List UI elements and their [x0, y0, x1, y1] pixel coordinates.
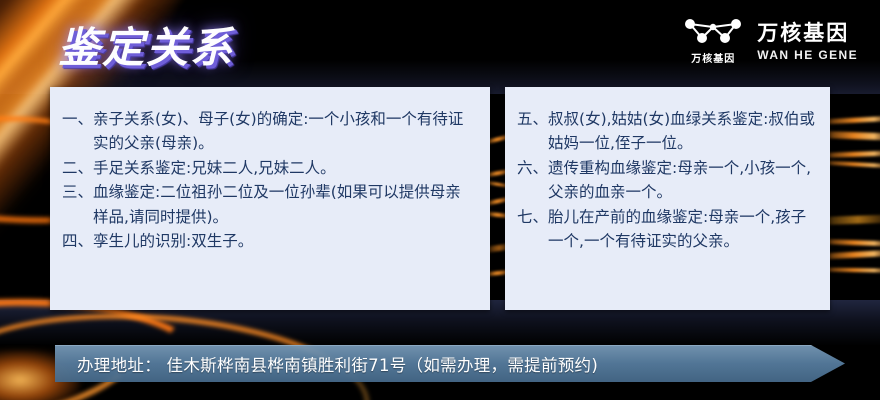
address-banner: 办理地址： 佳木斯桦南县桦南镇胜利街71号（如需办理，需提前预约) — [55, 345, 845, 382]
list-item: 三、 血缘鉴定:二位祖孙二位及一位孙辈(如果可以提供母亲样品,请同时提供)。 — [62, 180, 476, 229]
list-item: 二、 手足关系鉴定:兄妹二人,兄妹二人。 — [62, 156, 476, 180]
center-gap-streaks — [488, 95, 506, 305]
list-item-text: 手足关系鉴定:兄妹二人,兄妹二人。 — [93, 156, 476, 180]
list-item: 七、 胎儿在产前的血缘鉴定:母亲一个,孩子一个,一个有待证实的父亲。 — [517, 205, 816, 254]
list-item-number: 五、 — [517, 107, 548, 131]
panel-left: 一、 亲子关系(女)、母子(女)的确定:一个小孩和一个有待证实的父亲(母亲)。 … — [50, 87, 490, 310]
list-item-number: 四、 — [62, 229, 93, 253]
logo-mark: 万核基因 — [683, 14, 743, 65]
list-item: 五、 叔叔(女),姑姑(女)血绿关系鉴定:叔伯或姑妈一位,侄子一位。 — [517, 107, 816, 156]
list-item-number: 一、 — [62, 107, 93, 131]
list-item: 一、 亲子关系(女)、母子(女)的确定:一个小孩和一个有待证实的父亲(母亲)。 — [62, 107, 476, 156]
brand-name-en: WAN HE GENE — [757, 48, 858, 62]
slide-root: 鉴定关系 — [0, 0, 880, 400]
list-item-text: 孪生儿的识别:双生子。 — [93, 229, 476, 253]
list-item-text: 遗传重构血缘鉴定:母亲一个,小孩一个,父亲的血亲一个。 — [548, 156, 816, 205]
logo-mark-label: 万核基因 — [691, 50, 735, 65]
brand-logo: 万核基因 万核基因 WAN HE GENE — [683, 14, 858, 65]
logo-wordmark: 万核基因 WAN HE GENE — [757, 17, 858, 62]
list-item-number: 七、 — [517, 205, 548, 229]
address-text: 办理地址： 佳木斯桦南县桦南镇胜利街71号（如需办理，需提前预约) — [55, 352, 598, 376]
brand-name-cn: 万核基因 — [757, 17, 849, 47]
list-item-number: 三、 — [62, 180, 93, 204]
panel-right: 五、 叔叔(女),姑姑(女)血绿关系鉴定:叔伯或姑妈一位,侄子一位。 六、 遗传… — [505, 87, 830, 310]
list-item: 四、 孪生儿的识别:双生子。 — [62, 229, 476, 253]
address-banner-arrow: 办理地址： 佳木斯桦南县桦南镇胜利街71号（如需办理，需提前预约) — [55, 345, 845, 382]
page-title: 鉴定关系 — [58, 14, 234, 75]
list-item-number: 六、 — [517, 156, 548, 180]
list-item-text: 叔叔(女),姑姑(女)血绿关系鉴定:叔伯或姑妈一位,侄子一位。 — [548, 107, 816, 156]
list-item-text: 亲子关系(女)、母子(女)的确定:一个小孩和一个有待证实的父亲(母亲)。 — [93, 107, 476, 156]
list-item-text: 血缘鉴定:二位祖孙二位及一位孙辈(如果可以提供母亲样品,请同时提供)。 — [93, 180, 476, 229]
list-item-text: 胎儿在产前的血缘鉴定:母亲一个,孩子一个,一个有待证实的父亲。 — [548, 205, 816, 254]
list-item: 六、 遗传重构血缘鉴定:母亲一个,小孩一个,父亲的血亲一个。 — [517, 156, 816, 205]
molecule-nodes-icon — [683, 14, 743, 48]
list-item-number: 二、 — [62, 156, 93, 180]
